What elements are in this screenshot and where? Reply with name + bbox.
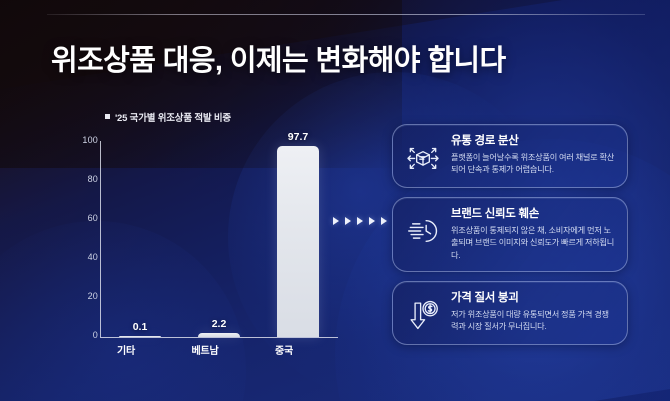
insight-card-desc: 위조상품이 통제되지 않은 채, 소비자에게 먼저 노출되며 브랜드 이미지와 … [451,225,615,262]
price-drop-coin-icon [403,295,443,335]
x-label-베트남: 베트남 [167,342,243,357]
insight-card-body: 브랜드 신뢰도 훼손 위조상품이 통제되지 않은 채, 소비자에게 먼저 노출되… [451,207,615,262]
y-tick-20: 20 [40,291,98,301]
insight-card-list: 유통 경로 분산 플랫폼이 늘어날수록 위조상품이 여러 채널로 확산되어 단속… [392,124,630,354]
play-triangle-icon [345,217,351,225]
x-label-중국: 중국 [246,342,322,357]
play-triangle-icon [333,217,339,225]
insight-card-price-collapse[interactable]: 가격 질서 붕괴 저가 위조상품이 대량 유통되면서 정품 가격 경쟁력과 시장… [392,281,628,345]
y-tick-80: 80 [40,174,98,184]
x-axis-line [100,337,338,338]
insight-card-desc: 저가 위조상품이 대량 유통되면서 정품 가격 경쟁력과 시장 질서가 무너집니… [451,309,615,334]
slide-title: 위조상품 대응, 이제는 변화해야 합니다 [51,37,506,79]
y-tick-100: 100 [40,135,98,145]
play-triangle-icon [369,217,375,225]
insight-card-title: 유통 경로 분산 [451,135,615,149]
insight-card-title: 가격 질서 붕괴 [451,292,615,306]
bar-value-베트남: 2.2 [212,318,227,330]
square-bullet-icon [105,114,110,119]
bar-베트남 [198,333,240,337]
chart-caption-text: '25 국가별 위조상품 적발 비중 [115,113,231,124]
bar-value-기타: 0.1 [133,321,148,333]
y-tick-60: 60 [40,213,98,223]
box-distribution-icon [403,138,443,178]
chart-plot-area: 100 80 60 40 20 0 0.1 2.2 [36,136,346,336]
chart-container: '25 국가별 위조상품 적발 비중 100 80 60 40 20 0 0.1 [36,110,346,360]
insight-card-desc: 플랫폼이 늘어날수록 위조상품이 여러 채널로 확산되어 단속과 통제가 어렵습… [451,152,615,177]
play-triangle-icon [357,217,363,225]
slide-canvas: 위조상품 대응, 이제는 변화해야 합니다 '25 국가별 위조상품 적발 비중… [0,0,670,401]
connector-arrows [333,217,387,225]
play-triangle-icon [381,217,387,225]
insight-card-brand-trust[interactable]: 브랜드 신뢰도 훼손 위조상품이 통제되지 않은 채, 소비자에게 먼저 노출되… [392,197,628,272]
speed-clock-icon [403,211,443,251]
insight-card-body: 가격 질서 붕괴 저가 위조상품이 대량 유통되면서 정품 가격 경쟁력과 시장… [451,291,615,334]
bar-group: 0.1 2.2 97.7 [100,141,338,337]
chart-caption: '25 국가별 위조상품 적발 비중 [105,110,231,124]
header-divider [47,14,645,15]
bar-기타 [119,336,161,338]
y-axis-ticks: 100 80 60 40 20 0 [36,136,98,337]
bar-중국 [277,146,319,337]
y-tick-40: 40 [40,252,98,262]
y-tick-0: 0 [40,330,98,340]
insight-card-title: 브랜드 신뢰도 훼손 [451,208,615,222]
insight-card-distribution[interactable]: 유통 경로 분산 플랫폼이 늘어날수록 위조상품이 여러 채널로 확산되어 단속… [392,124,628,188]
x-label-기타: 기타 [88,342,164,357]
bar-value-중국: 97.7 [288,131,308,143]
insight-card-body: 유통 경로 분산 플랫폼이 늘어날수록 위조상품이 여러 채널로 확산되어 단속… [451,134,615,177]
